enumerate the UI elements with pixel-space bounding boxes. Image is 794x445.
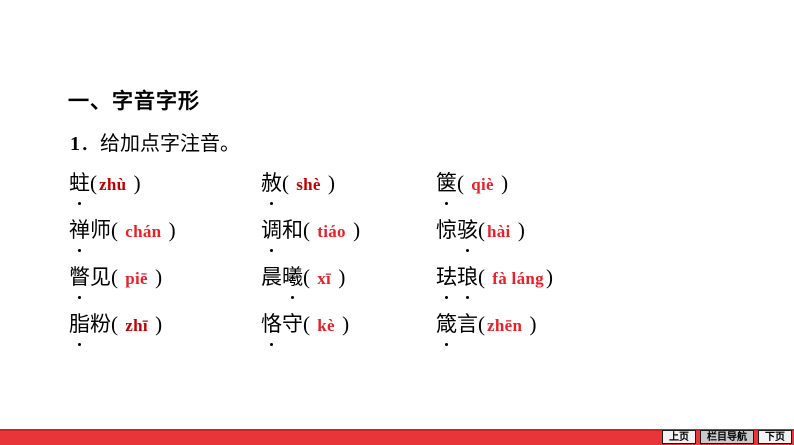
- open-paren: (: [282, 171, 294, 195]
- close-paren: ): [150, 265, 162, 289]
- next-page-button[interactable]: 下页: [758, 430, 792, 444]
- word-entry: 赦( shè ): [261, 168, 335, 200]
- character: 粉: [90, 309, 111, 339]
- word-entry: 箴言(zhēn ): [436, 309, 536, 341]
- section-title: 一、字音字形: [68, 85, 200, 115]
- character: 见: [90, 262, 111, 292]
- close-paren: ): [128, 171, 140, 195]
- word-entry: 禅师( chán ): [69, 215, 176, 247]
- open-paren: (: [303, 265, 315, 289]
- character: 守: [282, 309, 303, 339]
- word-row: 蛀(zhù )赦( shè )箧( qiè ): [0, 168, 794, 215]
- question-separator: ．: [80, 133, 100, 155]
- pinyin-answer: zhù: [97, 175, 128, 194]
- dotted-character: 禅: [69, 215, 90, 245]
- character: 师: [90, 215, 111, 245]
- pinyin-answer: chán: [123, 222, 163, 241]
- pinyin-answer: qiè: [469, 175, 496, 194]
- dotted-character: 恪: [261, 309, 282, 339]
- character: 惊: [436, 215, 457, 245]
- open-paren: (: [478, 265, 490, 289]
- pinyin-answer: zhēn: [485, 316, 524, 335]
- question-number: 1: [70, 133, 80, 155]
- dotted-character: 瞥: [69, 262, 90, 292]
- footer-navigation: 上页 栏目导航 下页: [662, 429, 792, 445]
- open-paren: (: [111, 218, 123, 242]
- dotted-character: 箧: [436, 168, 457, 198]
- word-entry: 箧( qiè ): [436, 168, 508, 200]
- open-paren: (: [111, 265, 123, 289]
- word-entry: 脂粉( zhī ): [69, 309, 162, 341]
- close-paren: ): [333, 265, 345, 289]
- close-paren: ): [546, 265, 553, 289]
- word-entry: 蛀(zhù ): [69, 168, 141, 200]
- character: 和: [282, 215, 303, 245]
- pinyin-answer: xī: [315, 269, 333, 288]
- close-paren: ): [150, 312, 162, 336]
- open-paren: (: [90, 171, 97, 195]
- close-paren: ): [163, 218, 175, 242]
- dotted-character: 蛀: [69, 168, 90, 198]
- dotted-character: 箴: [436, 309, 457, 339]
- open-paren: (: [478, 312, 485, 336]
- open-paren: (: [111, 312, 123, 336]
- word-entry: 调和( tiáo ): [261, 215, 360, 247]
- word-entry: 恪守( kè ): [261, 309, 349, 341]
- dotted-character: 琅: [457, 262, 478, 292]
- word-entry: 惊骇(hài ): [436, 215, 525, 247]
- close-paren: ): [524, 312, 536, 336]
- pinyin-answer: zhī: [123, 316, 150, 335]
- slide-canvas: 一、字音字形 1．给加点字注音。 蛀(zhù )赦( shè )箧( qiè )…: [0, 0, 794, 445]
- character: 言: [457, 309, 478, 339]
- character: 晨: [261, 262, 282, 292]
- word-row: 脂粉( zhī )恪守( kè )箴言(zhēn ): [0, 309, 794, 356]
- prev-page-button[interactable]: 上页: [662, 430, 696, 444]
- dotted-character: 珐: [436, 262, 457, 292]
- pinyin-answer: tiáo: [315, 222, 348, 241]
- pinyin-answer: piē: [123, 269, 150, 288]
- dotted-character: 曦: [282, 262, 303, 292]
- question-prompt: 1．给加点字注音。: [70, 127, 240, 156]
- dotted-character: 调: [261, 215, 282, 245]
- open-paren: (: [457, 171, 469, 195]
- close-paren: ): [496, 171, 508, 195]
- open-paren: (: [303, 312, 315, 336]
- word-row: 瞥见( piē )晨曦( xī )珐琅( fà láng): [0, 262, 794, 309]
- word-entry: 瞥见( piē ): [69, 262, 162, 294]
- footer-bar: 上页 栏目导航 下页: [0, 429, 794, 445]
- dotted-character: 脂: [69, 309, 90, 339]
- word-entry: 晨曦( xī ): [261, 262, 345, 294]
- close-paren: ): [513, 218, 525, 242]
- open-paren: (: [478, 218, 485, 242]
- question-text: 给加点字注音。: [100, 133, 240, 155]
- word-row: 禅师( chán )调和( tiáo )惊骇(hài ): [0, 215, 794, 262]
- pinyin-answer: hài: [485, 222, 513, 241]
- word-entry: 珐琅( fà láng): [436, 262, 553, 294]
- close-paren: ): [323, 171, 335, 195]
- section-navigation-button[interactable]: 栏目导航: [700, 430, 754, 444]
- pinyin-answer: kè: [315, 316, 337, 335]
- dotted-character: 赦: [261, 168, 282, 198]
- close-paren: ): [348, 218, 360, 242]
- close-paren: ): [337, 312, 349, 336]
- open-paren: (: [303, 218, 315, 242]
- word-grid: 蛀(zhù )赦( shè )箧( qiè )禅师( chán )调和( tiá…: [0, 168, 794, 356]
- pinyin-answer: shè: [294, 175, 323, 194]
- pinyin-answer: fà láng: [490, 269, 546, 288]
- dotted-character: 骇: [457, 215, 478, 245]
